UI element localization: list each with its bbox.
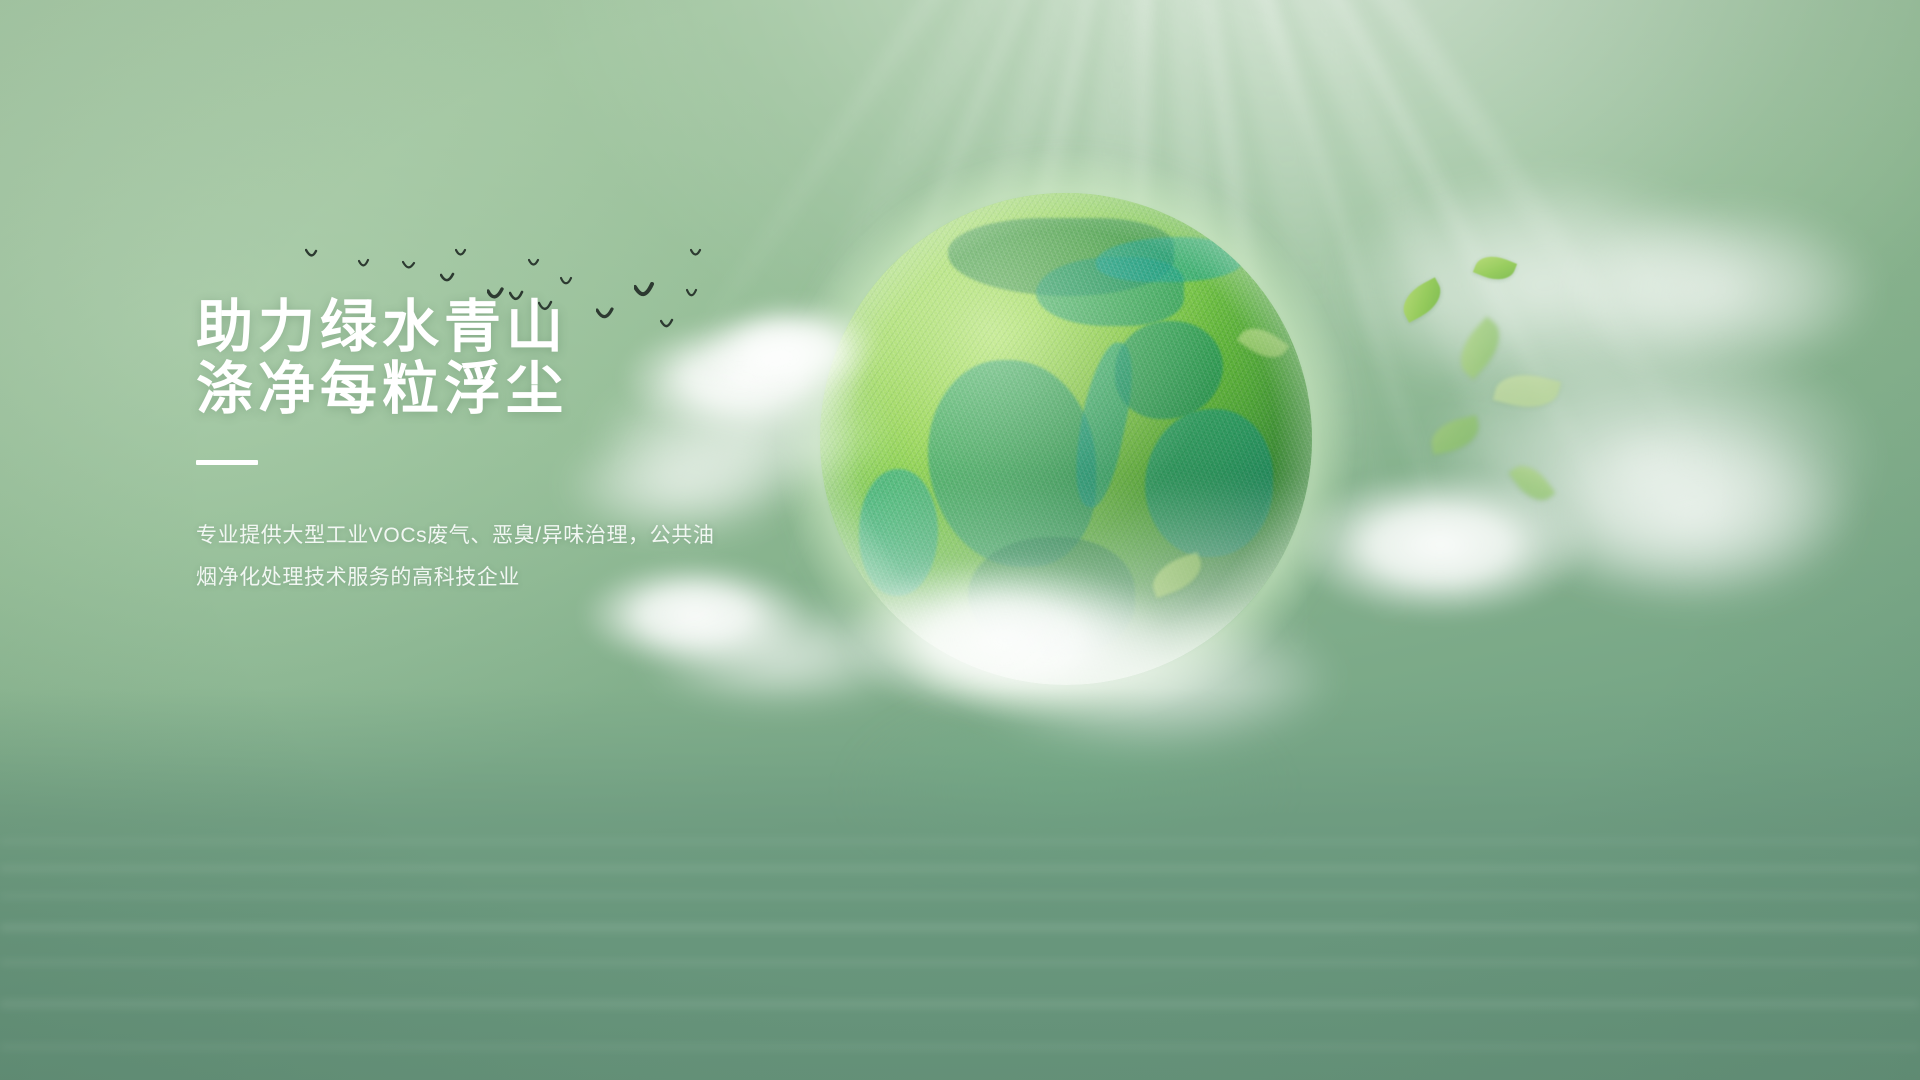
hero-copy: 助力绿水青山 涤净每粒浮尘 专业提供大型工业VOCs废气、恶臭/异味治理，公共油… (196, 296, 896, 599)
headline-line-2: 涤净每粒浮尘 (196, 358, 896, 420)
hero-subcopy: 专业提供大型工业VOCs废气、恶臭/异味治理，公共油烟净化处理技术服务的高科技企… (196, 515, 736, 599)
headline-line-1: 助力绿水青山 (196, 295, 568, 359)
hero-banner: 助力绿水青山 涤净每粒浮尘 专业提供大型工业VOCs废气、恶臭/异味治理，公共油… (0, 0, 1920, 1080)
title-divider (196, 460, 258, 465)
page-title: 助力绿水青山 涤净每粒浮尘 (196, 296, 896, 420)
